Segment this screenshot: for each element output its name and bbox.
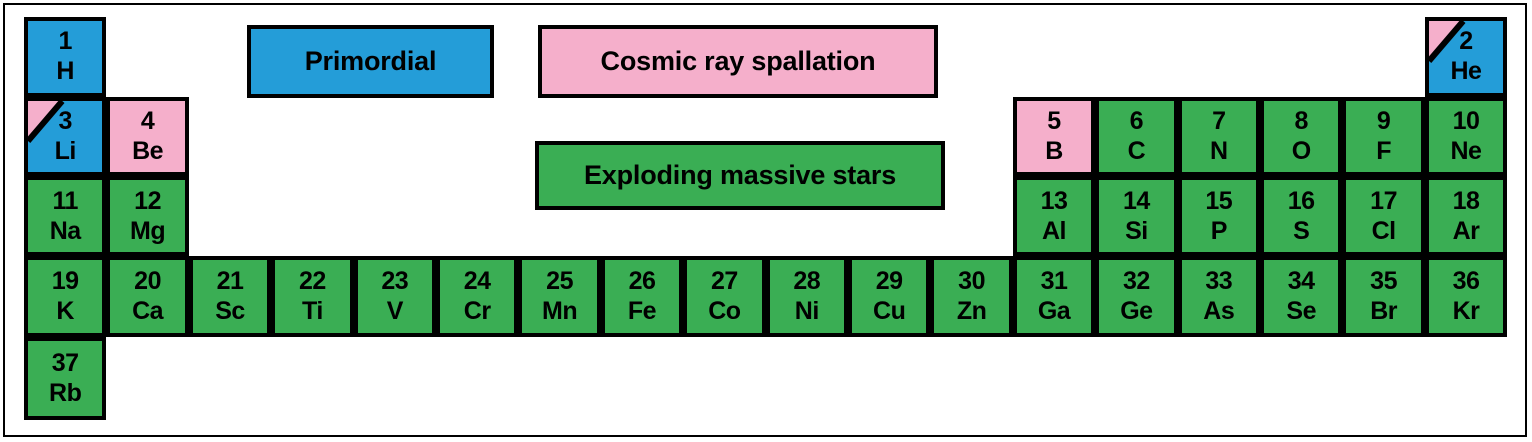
- element-symbol: Ni: [795, 299, 819, 324]
- element-cell-p[interactable]: 15P: [1178, 176, 1260, 256]
- element-cell-zn[interactable]: 30Zn: [930, 256, 1012, 337]
- atomic-number: 16: [1288, 189, 1315, 214]
- element-cell-li[interactable]: 3Li: [24, 97, 106, 177]
- atomic-number: 13: [1041, 189, 1068, 214]
- element-symbol: S: [1293, 219, 1309, 244]
- legend-item-primordial[interactable]: Primordial: [247, 25, 494, 98]
- element-symbol: As: [1203, 299, 1234, 324]
- element-symbol: Si: [1125, 219, 1148, 244]
- element-symbol: Mn: [542, 299, 577, 324]
- element-symbol: Ga: [1038, 299, 1070, 324]
- element-cell-sc[interactable]: 21Sc: [189, 256, 271, 337]
- element-symbol: Ti: [302, 299, 323, 324]
- element-cell-be[interactable]: 4Be: [106, 97, 188, 177]
- element-cell-br[interactable]: 35Br: [1342, 256, 1424, 337]
- atomic-number: 15: [1205, 189, 1232, 214]
- atomic-number: 1: [58, 29, 71, 54]
- element-symbol: Ca: [132, 299, 163, 324]
- atomic-number: 36: [1453, 269, 1480, 294]
- element-symbol: Br: [1370, 299, 1397, 324]
- legend-label: Cosmic ray spallation: [601, 46, 876, 77]
- element-cell-si[interactable]: 14Si: [1095, 176, 1177, 256]
- atomic-number: 24: [464, 269, 491, 294]
- element-cell-v[interactable]: 23V: [354, 256, 436, 337]
- atomic-number: 23: [381, 269, 408, 294]
- element-symbol: C: [1128, 139, 1146, 164]
- atomic-number: 26: [629, 269, 656, 294]
- atomic-number: 19: [52, 269, 79, 294]
- periodic-table-figure: 1H2He3Li4Be5B6C7N8O9F10Ne11Na12Mg13Al14S…: [0, 0, 1532, 442]
- atomic-number: 7: [1212, 109, 1225, 134]
- element-symbol: Be: [132, 139, 163, 164]
- atomic-number: 25: [546, 269, 573, 294]
- element-cell-fe[interactable]: 26Fe: [601, 256, 683, 337]
- element-symbol: Ne: [1451, 139, 1482, 164]
- element-symbol: He: [1451, 59, 1482, 84]
- atomic-number: 37: [52, 351, 79, 376]
- element-symbol: Li: [55, 139, 76, 164]
- element-symbol: K: [56, 299, 74, 324]
- atomic-number: 9: [1377, 109, 1390, 134]
- atomic-number: 32: [1123, 269, 1150, 294]
- atomic-number: 10: [1453, 109, 1480, 134]
- element-cell-kr[interactable]: 36Kr: [1425, 256, 1507, 337]
- atomic-number: 20: [134, 269, 161, 294]
- atomic-number: 22: [299, 269, 326, 294]
- element-cell-co[interactable]: 27Co: [683, 256, 765, 337]
- element-symbol: Co: [708, 299, 740, 324]
- element-symbol: Cu: [873, 299, 905, 324]
- element-cell-c[interactable]: 6C: [1095, 97, 1177, 177]
- atomic-number: 33: [1205, 269, 1232, 294]
- element-symbol: P: [1211, 219, 1227, 244]
- element-cell-ne[interactable]: 10Ne: [1425, 97, 1507, 177]
- element-cell-se[interactable]: 34Se: [1260, 256, 1342, 337]
- element-symbol: O: [1292, 139, 1311, 164]
- element-cell-f[interactable]: 9F: [1342, 97, 1424, 177]
- element-cell-ar[interactable]: 18Ar: [1425, 176, 1507, 256]
- element-cell-he[interactable]: 2He: [1425, 17, 1507, 97]
- atomic-number: 6: [1130, 109, 1143, 134]
- element-symbol: Cr: [464, 299, 491, 324]
- element-cell-mn[interactable]: 25Mn: [518, 256, 600, 337]
- element-cell-mg[interactable]: 12Mg: [106, 176, 188, 256]
- element-cell-ga[interactable]: 31Ga: [1013, 256, 1095, 337]
- element-cell-s[interactable]: 16S: [1260, 176, 1342, 256]
- atomic-number: 30: [958, 269, 985, 294]
- element-symbol: F: [1376, 139, 1391, 164]
- element-symbol: Na: [50, 219, 81, 244]
- legend-label: Primordial: [305, 46, 437, 77]
- element-cell-cl[interactable]: 17Cl: [1342, 176, 1424, 256]
- atomic-number: 17: [1370, 189, 1397, 214]
- element-cell-as[interactable]: 33As: [1178, 256, 1260, 337]
- atomic-number: 14: [1123, 189, 1150, 214]
- atomic-number: 11: [52, 189, 77, 214]
- atomic-number: 3: [58, 109, 71, 134]
- element-cell-ge[interactable]: 32Ge: [1095, 256, 1177, 337]
- element-cell-ti[interactable]: 22Ti: [271, 256, 353, 337]
- atomic-number: 2: [1459, 29, 1472, 54]
- element-symbol: H: [56, 59, 74, 84]
- atomic-number: 18: [1453, 189, 1480, 214]
- element-symbol: Mg: [130, 219, 165, 244]
- element-cell-rb[interactable]: 37Rb: [24, 337, 106, 420]
- atomic-number: 4: [141, 109, 154, 134]
- element-symbol: Ar: [1453, 219, 1480, 244]
- atomic-number: 21: [217, 269, 244, 294]
- element-cell-n[interactable]: 7N: [1178, 97, 1260, 177]
- element-symbol: Cl: [1372, 219, 1396, 244]
- atomic-number: 29: [876, 269, 903, 294]
- element-cell-na[interactable]: 11Na: [24, 176, 106, 256]
- atomic-number: 27: [711, 269, 738, 294]
- legend-label: Exploding massive stars: [584, 160, 896, 191]
- element-symbol: V: [387, 299, 403, 324]
- element-symbol: Rb: [49, 381, 81, 406]
- atomic-number: 35: [1370, 269, 1397, 294]
- atomic-number: 28: [793, 269, 820, 294]
- element-symbol: Sc: [215, 299, 245, 324]
- atomic-number: 12: [134, 189, 161, 214]
- element-symbol: Ge: [1120, 299, 1152, 324]
- atomic-number: 5: [1047, 109, 1060, 134]
- element-cell-cr[interactable]: 24Cr: [436, 256, 518, 337]
- atomic-number: 34: [1288, 269, 1315, 294]
- element-cell-al[interactable]: 13Al: [1013, 176, 1095, 256]
- element-cell-cu[interactable]: 29Cu: [848, 256, 930, 337]
- element-cell-k[interactable]: 19K: [24, 256, 106, 337]
- atomic-number: 8: [1294, 109, 1307, 134]
- element-cell-h[interactable]: 1H: [24, 17, 106, 97]
- element-symbol: Kr: [1453, 299, 1480, 324]
- legend-item-exploding-massive-stars[interactable]: Exploding massive stars: [535, 141, 945, 210]
- element-symbol: B: [1045, 139, 1063, 164]
- element-cell-ca[interactable]: 20Ca: [106, 256, 188, 337]
- legend-item-cosmic-ray-spallation[interactable]: Cosmic ray spallation: [538, 25, 938, 98]
- element-symbol: N: [1210, 139, 1228, 164]
- element-cell-o[interactable]: 8O: [1260, 97, 1342, 177]
- element-cell-b[interactable]: 5B: [1013, 97, 1095, 177]
- element-cell-ni[interactable]: 28Ni: [766, 256, 848, 337]
- atomic-number: 31: [1041, 269, 1068, 294]
- element-symbol: Fe: [628, 299, 656, 324]
- element-symbol: Zn: [957, 299, 987, 324]
- element-symbol: Al: [1042, 219, 1066, 244]
- element-symbol: Se: [1286, 299, 1316, 324]
